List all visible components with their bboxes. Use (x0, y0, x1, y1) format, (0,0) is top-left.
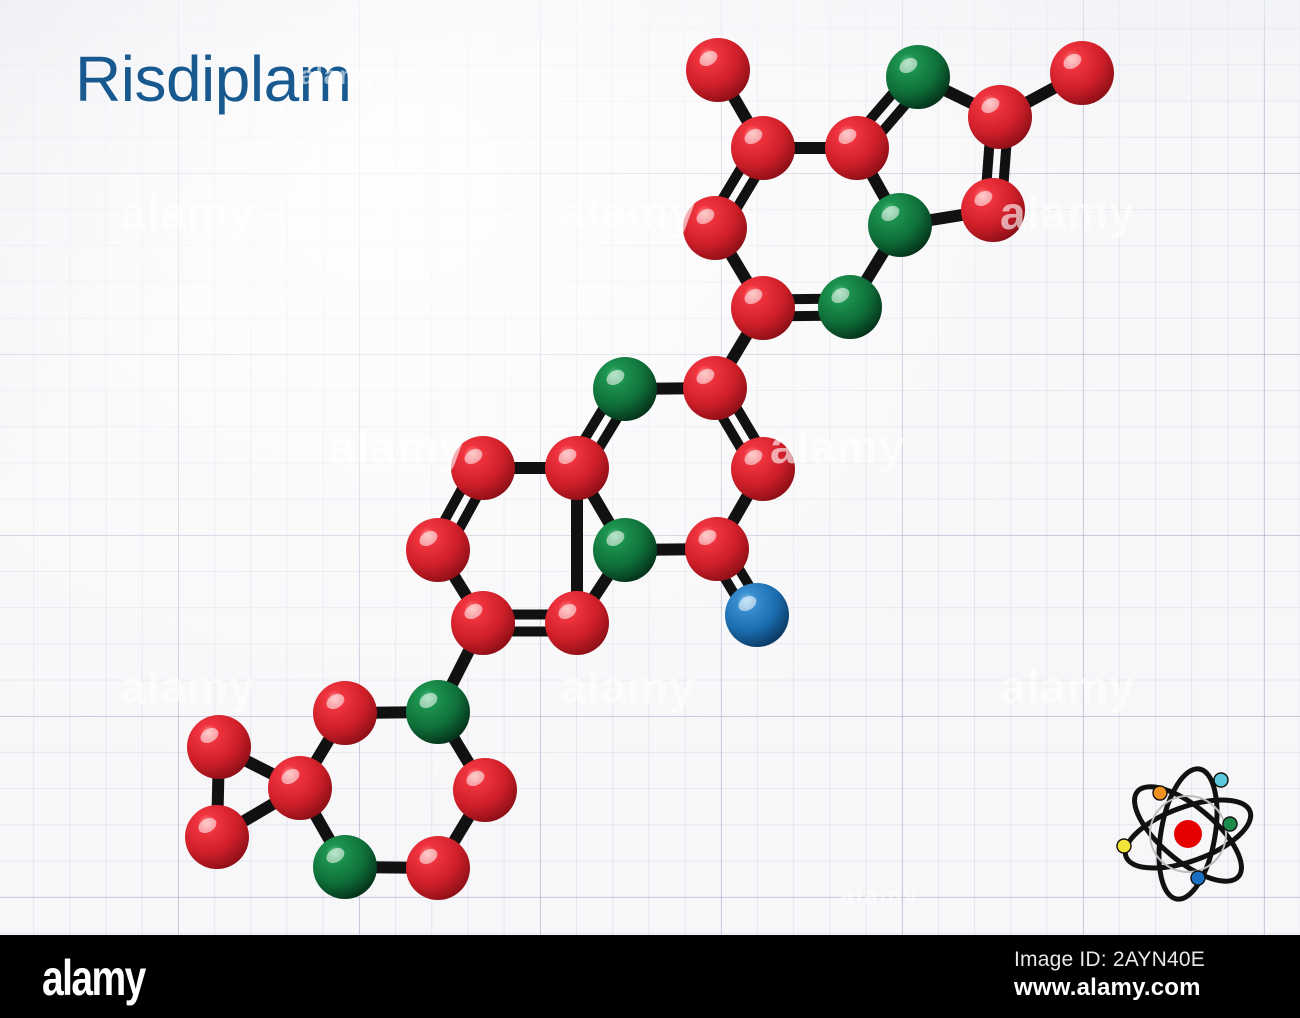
atom-layer (185, 38, 1114, 900)
atom-carbon (685, 517, 749, 581)
atom-carbon (683, 356, 747, 420)
footer-bar: alamy Image ID: 2AYN40E www.alamy.com (0, 935, 1300, 1018)
atom-oxygen (725, 583, 789, 647)
atom-carbon (731, 437, 795, 501)
electron-blue (1191, 871, 1205, 885)
atom-carbon (451, 436, 515, 500)
atom-carbon (683, 196, 747, 260)
atom-nitrogen (593, 518, 657, 582)
atom-nitrogen (406, 680, 470, 744)
bond-layer (217, 70, 1082, 868)
atom-nucleus (1174, 820, 1202, 848)
electron-orange (1153, 786, 1167, 800)
atom-icon (1112, 758, 1264, 910)
atom-nitrogen (313, 835, 377, 899)
molecule-diagram (0, 0, 1300, 935)
atom-carbon (961, 178, 1025, 242)
atom-carbon (313, 681, 377, 745)
website-label[interactable]: www.alamy.com (1014, 973, 1274, 1003)
atom-carbon (451, 591, 515, 655)
atom-nitrogen (886, 45, 950, 109)
electron-green (1223, 817, 1237, 831)
atom-nitrogen (868, 193, 932, 257)
alamy-logo[interactable]: alamy (42, 949, 145, 1007)
electron-cyan (1214, 773, 1228, 787)
image-id-label: Image ID: 2AYN40E (1014, 947, 1274, 973)
atom-carbon (187, 715, 251, 779)
atom-carbon (453, 758, 517, 822)
atom-carbon (686, 38, 750, 102)
atom-carbon (825, 116, 889, 180)
screenshot-root: Risdiplam alamy (0, 0, 1300, 1018)
atom-carbon (968, 85, 1032, 149)
atom-carbon (1050, 41, 1114, 105)
atom-carbon (406, 518, 470, 582)
atom-carbon (545, 436, 609, 500)
atom-nitrogen (593, 357, 657, 421)
atom-carbon (268, 756, 332, 820)
atom-carbon (731, 276, 795, 340)
atom-carbon (545, 591, 609, 655)
atom-nitrogen (818, 275, 882, 339)
electron-yellow (1117, 839, 1131, 853)
atom-carbon (185, 805, 249, 869)
atom-carbon (731, 116, 795, 180)
atom-carbon (406, 836, 470, 900)
footer-right: Image ID: 2AYN40E www.alamy.com (1014, 947, 1274, 1003)
